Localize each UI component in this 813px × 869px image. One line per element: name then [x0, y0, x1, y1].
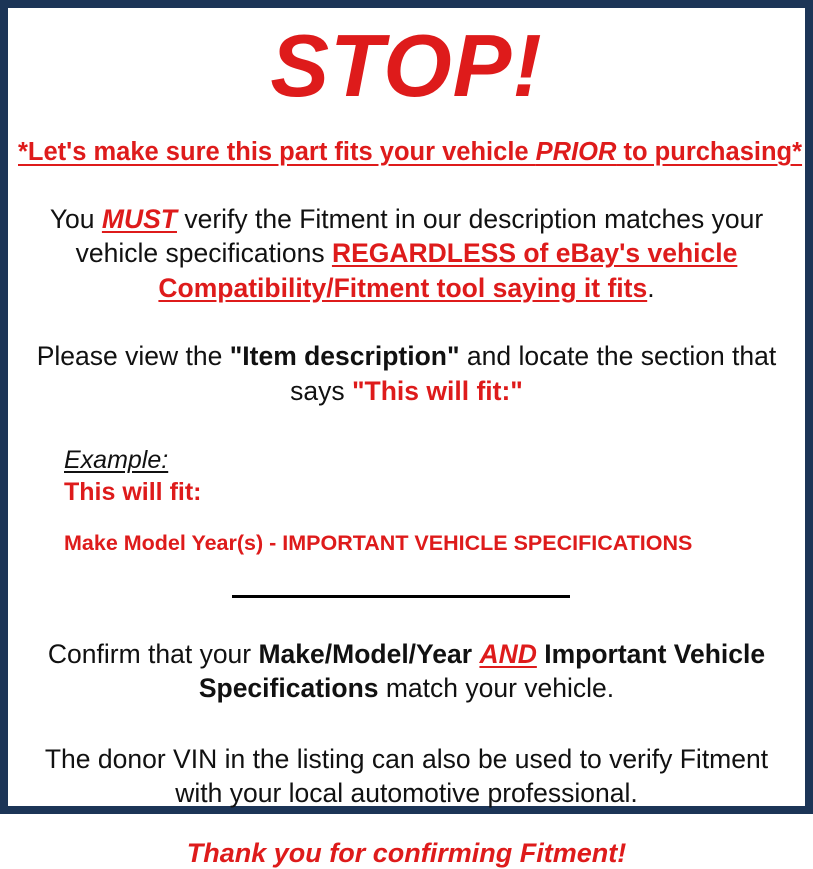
- confirm-paragraph: Confirm that your Make/Model/Year AND Im…: [18, 603, 795, 706]
- horizontal-divider: [232, 595, 570, 598]
- this-will-fit-quote: "This will fit:": [352, 376, 523, 406]
- stop-title: STOP!: [18, 8, 795, 110]
- confirm-segment-2: match your vehicle.: [379, 673, 615, 703]
- subheading-before: *Let's make sure this part fits your veh…: [18, 138, 536, 166]
- example-spec-line: Make Model Year(s) - IMPORTANT VEHICLE S…: [64, 507, 795, 557]
- verify-segment-3: .: [647, 273, 654, 303]
- example-label: Example:: [64, 446, 168, 475]
- donor-vin-paragraph: The donor VIN in the listing can also be…: [18, 706, 795, 811]
- verify-segment-1: You: [50, 204, 102, 234]
- subheading-line: *Let's make sure this part fits your veh…: [18, 110, 795, 166]
- view-segment-1: Please view the: [37, 341, 230, 371]
- divider-wrap: [18, 557, 795, 603]
- item-description-label: "Item description": [230, 341, 460, 371]
- subheading-emphasis-prior: PRIOR: [536, 138, 617, 166]
- example-label-row: Example:: [64, 446, 795, 475]
- make-model-year-emphasis: Make/Model/Year: [258, 639, 472, 669]
- confirm-segment-1: Confirm that your: [48, 639, 259, 669]
- example-block: Example: This will fit: Make Model Year(…: [18, 408, 795, 557]
- must-emphasis: MUST: [102, 204, 177, 234]
- fitment-notice-frame: STOP! *Let's make sure this part fits yo…: [0, 0, 813, 814]
- verify-fitment-paragraph: You MUST verify the Fitment in our descr…: [18, 166, 795, 305]
- closing-thank-you: Thank you for confirming Fitment!: [18, 811, 795, 869]
- example-fit-header: This will fit:: [64, 475, 795, 507]
- item-description-paragraph: Please view the "Item description" and l…: [18, 305, 795, 408]
- and-emphasis: AND: [479, 639, 536, 669]
- fitment-notice-body: STOP! *Let's make sure this part fits yo…: [8, 8, 805, 806]
- subheading-after: to purchasing*: [616, 138, 802, 166]
